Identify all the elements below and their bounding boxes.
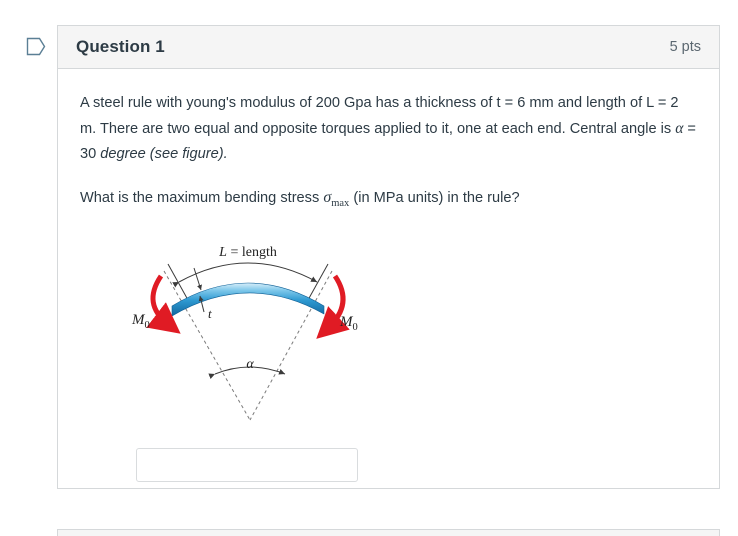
- thickness-indicator: [194, 268, 204, 312]
- page-title: Question 1: [76, 37, 165, 57]
- thickness-label: t: [208, 306, 212, 321]
- beam-torque-figure-svg: L = length t M0 M0 α: [128, 238, 378, 428]
- moment-right-sub: 0: [353, 322, 358, 333]
- dimension-extension-lines: [168, 264, 328, 300]
- sigma-max-symbol: σmax: [323, 189, 349, 206]
- page-root: Question 1 5 pts A steel rule with young…: [0, 0, 738, 536]
- question-paragraph-2: What is the maximum bending stress σmax …: [80, 185, 697, 216]
- sigma-subscript: max: [331, 198, 349, 209]
- radial-dashed-lines: [164, 271, 332, 420]
- moment-label-right: M0: [339, 314, 358, 333]
- steel-rule-beam: [172, 283, 324, 316]
- question-paragraph-1-part1: A steel rule with young's modulus of 200…: [80, 95, 679, 137]
- question-card-body: A steel rule with young's modulus of 200…: [58, 69, 719, 216]
- question-paragraph-1-italic: degree (see figure).: [100, 146, 227, 162]
- answer-input[interactable]: [136, 448, 358, 482]
- question-paragraph-1: A steel rule with young's modulus of 200…: [80, 91, 697, 167]
- question-paragraph-2-part2: (in MPa units) in the rule?: [349, 190, 519, 206]
- length-label: L = length: [218, 245, 277, 260]
- length-dimension-arc: [179, 263, 317, 282]
- question-card: Question 1 5 pts A steel rule with young…: [57, 25, 720, 489]
- bookmark-flag-icon-svg: [26, 36, 46, 57]
- bookmark-flag-icon[interactable]: [26, 36, 46, 57]
- angle-label: α: [246, 357, 254, 372]
- question-paragraph-2-part1: What is the maximum bending stress: [80, 190, 323, 206]
- next-question-card[interactable]: [57, 529, 720, 536]
- question-card-header: Question 1 5 pts: [58, 26, 719, 69]
- beam-torque-figure: L = length t M0 M0 α: [128, 238, 378, 428]
- moment-arrow-left: [153, 276, 168, 324]
- points-badge: 5 pts: [670, 39, 701, 55]
- moment-left-sub: 0: [145, 320, 150, 331]
- moment-label-left: M0: [131, 312, 150, 331]
